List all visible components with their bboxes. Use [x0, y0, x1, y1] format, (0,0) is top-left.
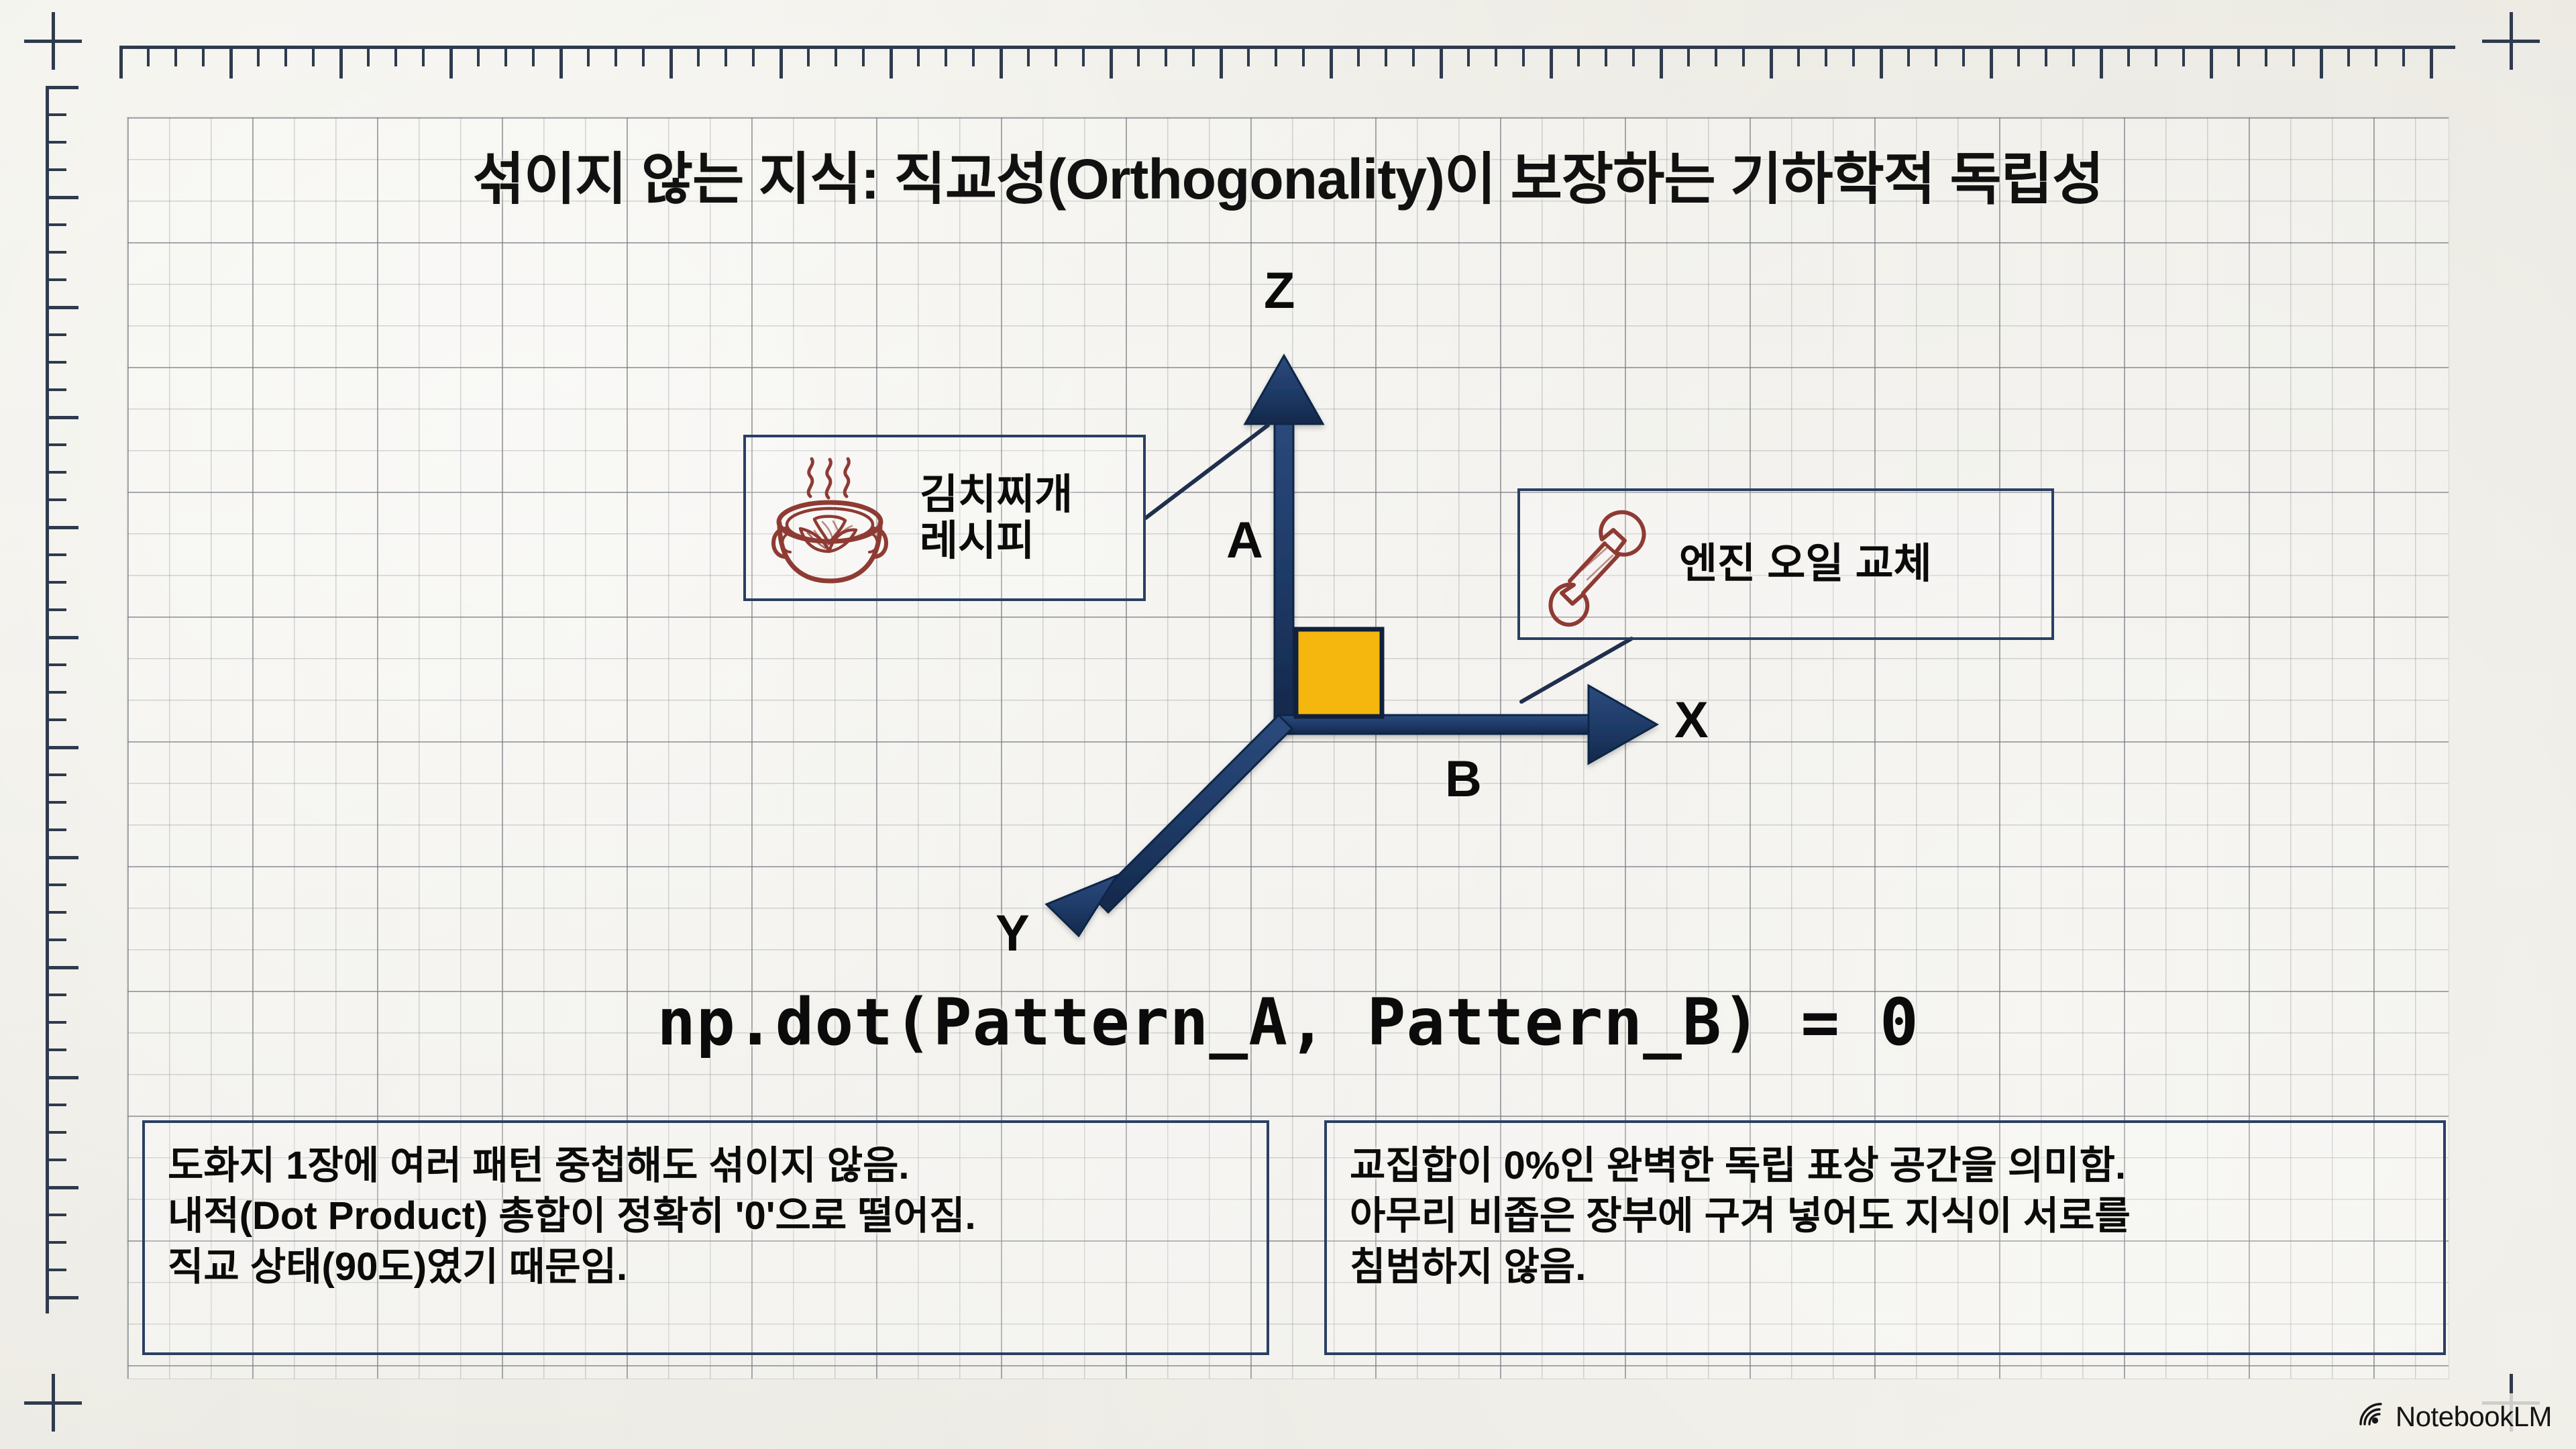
note-right-line-1: 교집합이 0%인 완벽한 독립 표상 공간을 의미함. [1350, 1140, 2420, 1191]
x-axis-label: X [1674, 691, 1709, 749]
note-left-line-2: 내적(Dot Product) 총합이 정확히 '0'으로 떨어짐. [168, 1191, 1244, 1241]
note-right-line-3: 침범하지 않음. [1350, 1242, 2420, 1292]
z-axis-label: Z [1264, 262, 1295, 320]
dot-product-formula: np.dot(Pattern_A, Pattern_B) = 0 [127, 985, 2449, 1060]
notebooklm-logo-icon [2357, 1400, 2386, 1433]
note-right-line-2: 아무리 비좁은 장부에 구겨 넣어도 지식이 서로를 [1350, 1191, 2420, 1241]
note-box-right: 교집합이 0%인 완벽한 독립 표상 공간을 의미함. 아무리 비좁은 장부에 … [1324, 1120, 2446, 1355]
note-left-line-1: 도화지 1장에 여러 패턴 중첩해도 섞이지 않음. [168, 1140, 1244, 1191]
callout-wrench-label: 엔진 오일 교체 [1679, 541, 1932, 587]
callout-kimchi-recipe[interactable]: 김치찌개 레시피 [743, 435, 1146, 601]
vector-a-label: A [1226, 511, 1263, 570]
note-box-left: 도화지 1장에 여러 패턴 중첩해도 섞이지 않음. 내적(Dot Produc… [142, 1120, 1269, 1355]
leader-line-wrench [1521, 639, 1631, 702]
callout-engine-oil-change[interactable]: 엔진 오일 교체 [1517, 488, 2054, 640]
notebooklm-watermark-text: NotebookLM [2396, 1401, 2552, 1433]
notebooklm-watermark: NotebookLM [2346, 1393, 2567, 1440]
right-angle-marker [1296, 629, 1382, 716]
vector-b-label: B [1445, 750, 1482, 808]
y-axis-arrow [1046, 715, 1292, 936]
wrench-icon [1535, 500, 1659, 628]
y-axis-label: Y [996, 904, 1030, 963]
leader-line-kimchi [1146, 425, 1268, 518]
note-left-line-3: 직교 상태(90도)였기 때문임. [168, 1242, 1244, 1292]
callout-kimchi-label: 김치찌개 레시피 [920, 472, 1073, 565]
kimchi-stew-pot-icon [758, 449, 902, 587]
whiteboard-canvas: 섞이지 않는 지식: 직교성(Orthogonality)이 보장하는 기하학적… [0, 0, 2576, 1449]
